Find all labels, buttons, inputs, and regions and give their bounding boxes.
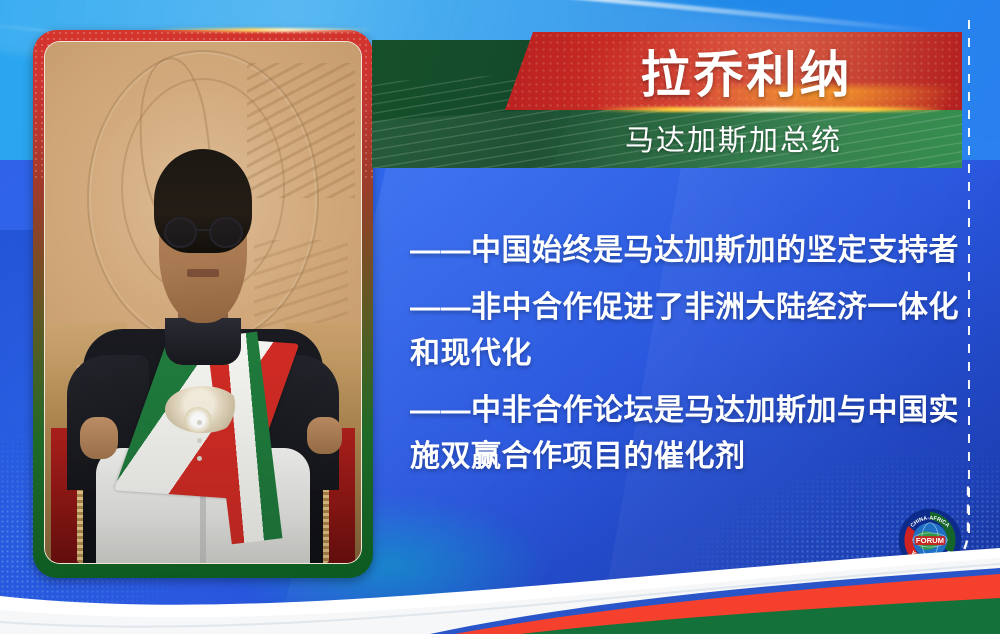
person-name: 拉乔利纳 [505,32,962,110]
quote-item: ——非中合作促进了非洲大陆经济一体化和现代化 [410,285,965,377]
portrait-photo [44,41,362,564]
frame-gold-highlight [153,28,373,32]
photo-vignette [45,42,361,563]
broadcast-graphic-slide: 拉乔利纳 马达加斯加总统 ——中国始终是马达加斯加的坚定支持者 ——非中合作促进… [0,0,1000,634]
portrait-frame [33,30,373,578]
bottom-wave-decoration [0,524,1000,634]
quote-item: ——中非合作论坛是马达加斯加与中国实施双赢合作项目的催化剂 [410,388,965,480]
dashed-guide-line [968,20,970,535]
quote-item: ——中国始终是马达加斯加的坚定支持者 [410,228,965,274]
person-role-title: 马达加斯加总统 [505,112,962,164]
quote-list: ——中国始终是马达加斯加的坚定支持者 ——非中合作促进了非洲大陆经济一体化和现代… [410,228,965,491]
